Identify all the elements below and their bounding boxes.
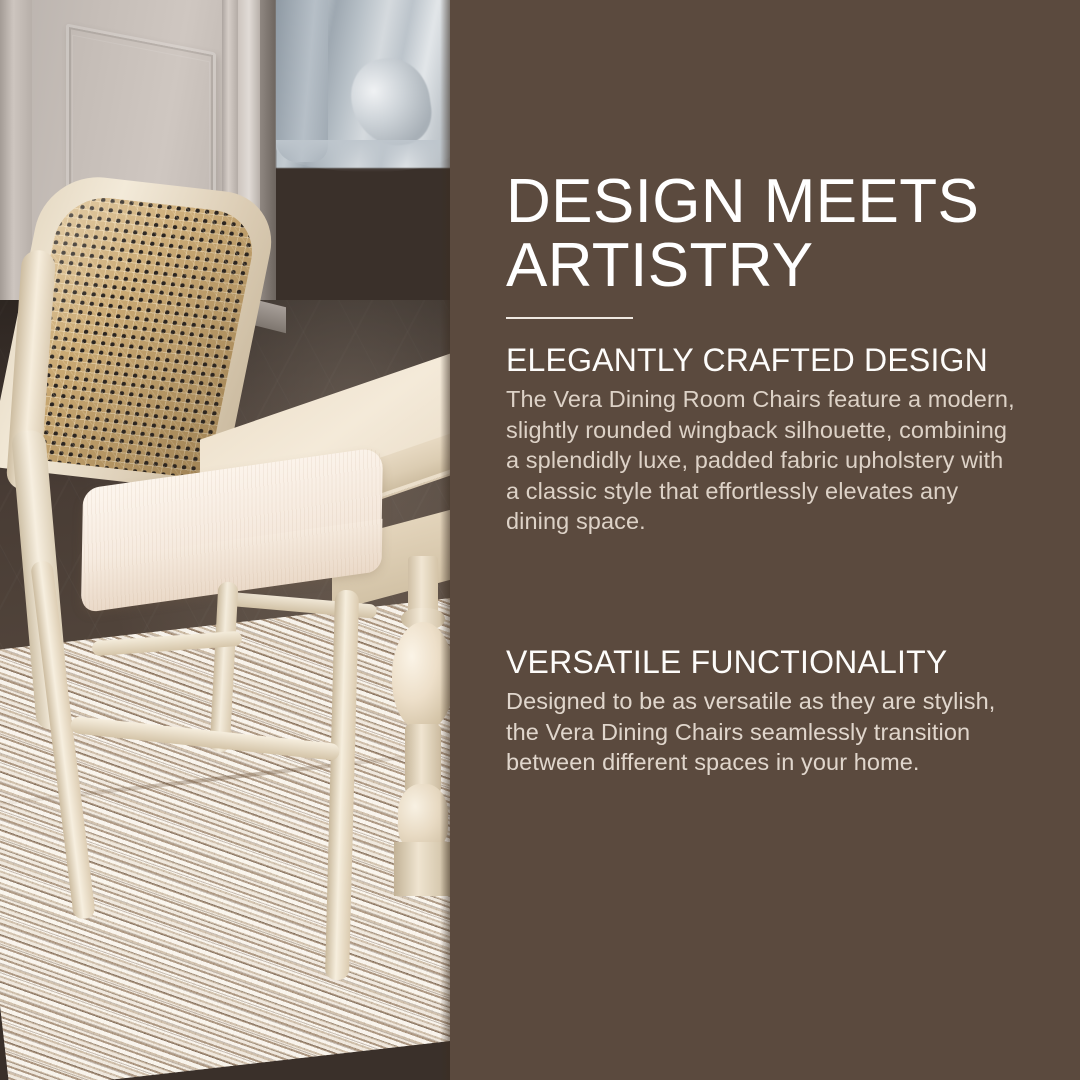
product-photo xyxy=(0,0,450,1080)
cane-back-chair xyxy=(0,0,450,1080)
pedestal-neck xyxy=(408,556,438,614)
feature-section-functionality: VERSATILE FUNCTIONALITY Designed to be a… xyxy=(506,640,1016,778)
chair-leg-front-left xyxy=(30,560,96,920)
feature-section-design: ELEGANTLY CRAFTED DESIGN The Vera Dining… xyxy=(506,338,1016,537)
title-divider xyxy=(506,317,633,319)
feature-title-design: ELEGANTLY CRAFTED DESIGN xyxy=(506,338,1016,382)
copy-panel-inner: DESIGN MEETS ARTISTRY ELEGANTLY CRAFTED … xyxy=(506,0,1046,1080)
chair-leg-front-right xyxy=(325,590,359,980)
feature-body-design: The Vera Dining Room Chairs feature a mo… xyxy=(506,384,1016,537)
photo-edge-vignette xyxy=(440,0,450,1080)
page-title: DESIGN MEETS ARTISTRY xyxy=(506,170,1046,299)
chair-leg-middle xyxy=(210,582,239,753)
copy-panel: DESIGN MEETS ARTISTRY ELEGANTLY CRAFTED … xyxy=(450,0,1080,1080)
chair-stretcher-lower xyxy=(70,716,340,761)
feature-title-functionality: VERSATILE FUNCTIONALITY xyxy=(506,640,1016,684)
feature-body-functionality: Designed to be as versatile as they are … xyxy=(506,686,1016,778)
marketing-banner: DESIGN MEETS ARTISTRY ELEGANTLY CRAFTED … xyxy=(0,0,1080,1080)
